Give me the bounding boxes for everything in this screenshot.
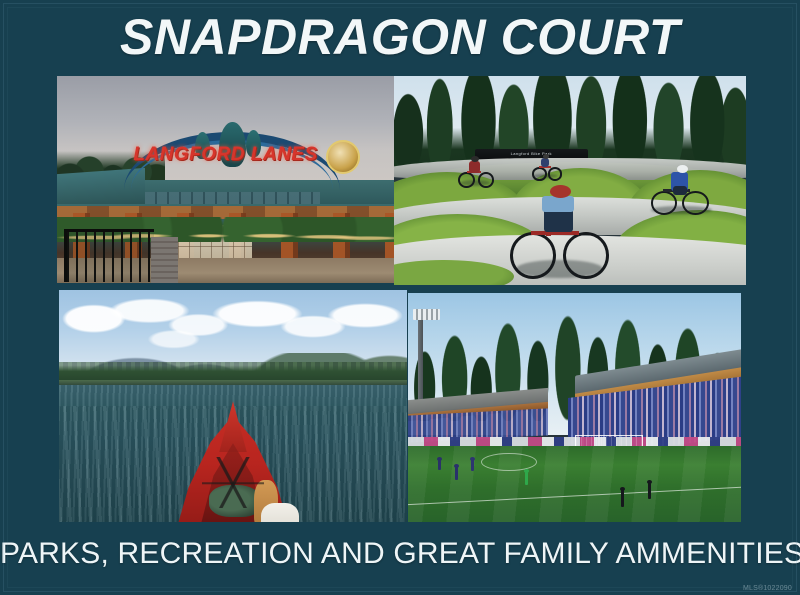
iron-gate [64,229,155,282]
cyclist-background-left [457,155,492,188]
player [455,467,458,480]
page-title: SNAPDRAGON COURT [0,6,800,68]
cyclist-right [651,164,707,216]
floodlight-rig-icon [413,309,440,320]
deck-bungee-cords [202,457,265,508]
mls-watermark: MLS®1022090 [743,585,792,592]
photo-pump-track[interactable]: Langford Bike Park [394,76,746,285]
listing-poster: SNAPDRAGON COURT LANGFORD LANES Langford… [0,0,800,595]
floodlight-pole [418,314,423,406]
goalkeeper [525,472,528,485]
player [648,483,651,499]
cyclist-foreground [510,185,605,277]
photo-langford-lanes[interactable]: LANGFORD LANES [57,76,394,283]
player [471,460,474,471]
page-caption: PARKS, RECREATION AND GREAT FAMILY AMMEN… [0,535,800,573]
photo-soccer-stadium[interactable] [408,293,741,522]
pitch-mow-stripes [408,446,741,522]
player [621,490,624,507]
player [438,460,441,470]
photo-kayak-lake[interactable] [59,290,407,522]
cyclist-background-right [531,153,559,180]
stone-pillar [151,237,178,283]
white-gear [261,503,299,522]
